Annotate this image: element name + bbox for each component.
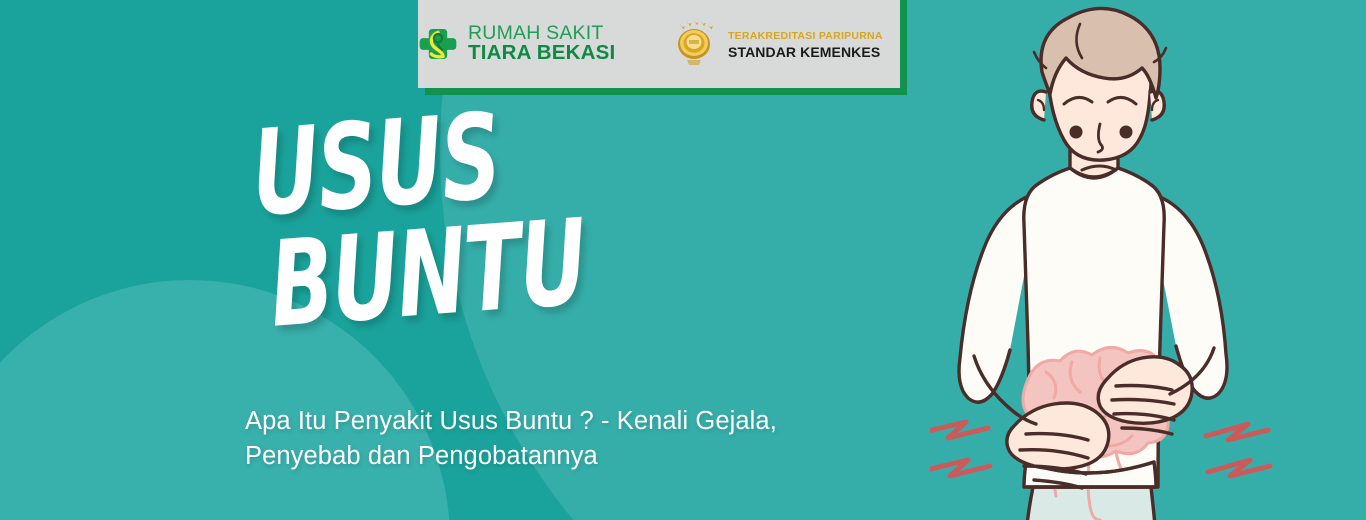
page-title: USUS BUNTU — [248, 80, 783, 342]
page-subtitle: Apa Itu Penyakit Usus Buntu ? - Kenali G… — [245, 404, 865, 474]
hospital-name-line2: TIARA BEKASI — [468, 41, 615, 64]
hospital-logo: RUMAH SAKIT TIARA BEKASI — [418, 24, 628, 65]
appendicitis-article-banner: RUMAH SAKIT TIARA BEKASI — [0, 0, 1366, 520]
gold-medal-icon — [670, 16, 718, 72]
accreditation-line2: STANDAR KEMENKES — [728, 44, 880, 60]
accreditation-name: TERAKREDITASI PARIPURNA STANDAR KEMENKES — [728, 26, 900, 62]
man-with-abdominal-pain-illustration — [930, 0, 1366, 520]
accreditation-line1: TERAKREDITASI PARIPURNA — [728, 30, 883, 42]
accreditation-logo: TERAKREDITASI PARIPURNA STANDAR KEMENKES — [670, 16, 900, 72]
hospital-cross-logo-icon — [418, 24, 458, 64]
hospital-name: RUMAH SAKIT TIARA BEKASI — [468, 24, 628, 65]
hospital-name-line1: RUMAH SAKIT — [468, 22, 603, 44]
logo-bar: RUMAH SAKIT TIARA BEKASI — [418, 0, 900, 88]
